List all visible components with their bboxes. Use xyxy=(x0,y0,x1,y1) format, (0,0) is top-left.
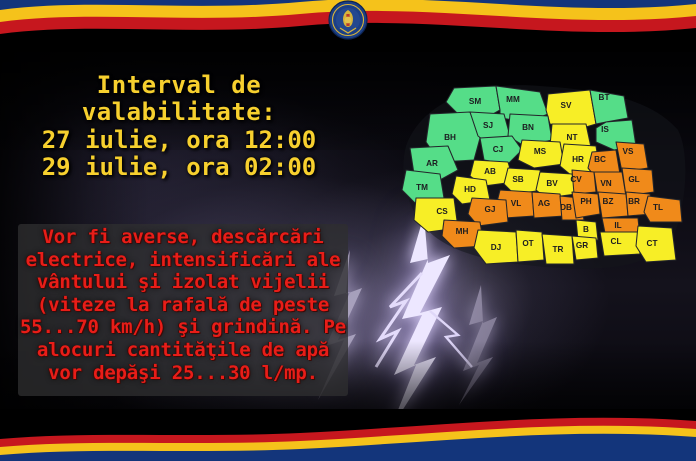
map-county-label-cl: CL xyxy=(611,237,622,246)
map-county-label-tm: TM xyxy=(416,183,428,192)
map-county-label-sv: SV xyxy=(561,101,572,110)
map-county-label-tl: TL xyxy=(653,203,663,212)
map-county-label-ar: AR xyxy=(426,159,438,168)
validity-interval-heading: Interval de valabilitate: 27 iulie, ora … xyxy=(14,72,344,181)
heading-end-datetime: 29 iulie, ora 02:00 xyxy=(14,154,344,181)
map-county-label-is: IS xyxy=(601,125,609,134)
message-line-1: Vor fi averse, descărcări xyxy=(18,226,348,249)
map-county-label-gr: GR xyxy=(576,241,588,250)
map-county-label-ot: OT xyxy=(522,239,533,248)
warning-message-text: Vor fi averse, descărcări electrice, int… xyxy=(18,226,348,384)
map-county-label-bt: BT xyxy=(599,93,610,102)
map-county-label-ag: AG xyxy=(538,199,550,208)
romania-warning-map: SMMMSVBTBHSJBNNTISCJMSHRBCVSARABSBBVCVVN… xyxy=(400,80,690,305)
message-line-3: vântului şi izolat vijelii xyxy=(18,271,348,294)
map-county-label-hr: HR xyxy=(572,155,584,164)
map-county-label-mh: MH xyxy=(456,227,469,236)
map-county-label-bc: BC xyxy=(594,155,606,164)
map-county-label-hd: HD xyxy=(464,185,476,194)
map-county-label-vl: VL xyxy=(511,199,521,208)
message-line-7: vor depăşi 25...30 l/mp. xyxy=(18,362,348,385)
map-county-label-cj: CJ xyxy=(493,145,503,154)
romanian-coat-of-arms-icon xyxy=(318,0,378,44)
message-line-2: electrice, intensificări ale xyxy=(18,249,348,272)
map-county-label-sj: SJ xyxy=(483,121,493,130)
map-county-label-dj: DJ xyxy=(491,243,501,252)
heading-line-1: Interval de xyxy=(14,72,344,99)
map-county-label-cs: CS xyxy=(436,207,448,216)
map-county-label-bh: BH xyxy=(444,133,456,142)
map-county-label-gj: GJ xyxy=(485,205,496,214)
map-county-label-nt: NT xyxy=(567,133,578,142)
map-county-label-vn: VN xyxy=(600,179,611,188)
map-county-label-bn: BN xyxy=(522,123,534,132)
map-county-label-tr: TR xyxy=(553,245,564,254)
heading-line-2: valabilitate: xyxy=(14,99,344,126)
message-line-4: (viteze la rafală de peste xyxy=(18,294,348,317)
message-line-5: 55...70 km/h) şi grindină. Pe xyxy=(18,316,348,339)
message-line-6: alocuri cantităţile de apă xyxy=(18,339,348,362)
map-county-label-sm: SM xyxy=(469,97,481,106)
map-county-label-br: BR xyxy=(628,197,640,206)
map-county-label-bv: BV xyxy=(546,179,558,188)
map-county-label-sb: SB xyxy=(512,175,523,184)
map-county-label-bz: BZ xyxy=(603,197,614,206)
map-county-label-mm: MM xyxy=(506,95,520,104)
map-county-label-ct: CT xyxy=(647,239,658,248)
map-county-label-vs: VS xyxy=(623,147,634,156)
map-county-label-cv: CV xyxy=(570,175,582,184)
map-county-label-ph: PH xyxy=(580,197,591,206)
weather-warning-poster: SMMMSVBTBHSJBNNTISCJMSHRBCVSARABSBBVCVVN… xyxy=(0,0,696,461)
map-county-label-ms: MS xyxy=(534,147,547,156)
map-county-label-b: B xyxy=(583,225,589,234)
heading-start-datetime: 27 iulie, ora 12:00 xyxy=(14,127,344,154)
map-county-label-gl: GL xyxy=(628,175,639,184)
map-county-label-ab: AB xyxy=(484,167,496,176)
map-county-label-db: DB xyxy=(560,203,572,212)
map-county-label-il: IL xyxy=(614,221,621,230)
